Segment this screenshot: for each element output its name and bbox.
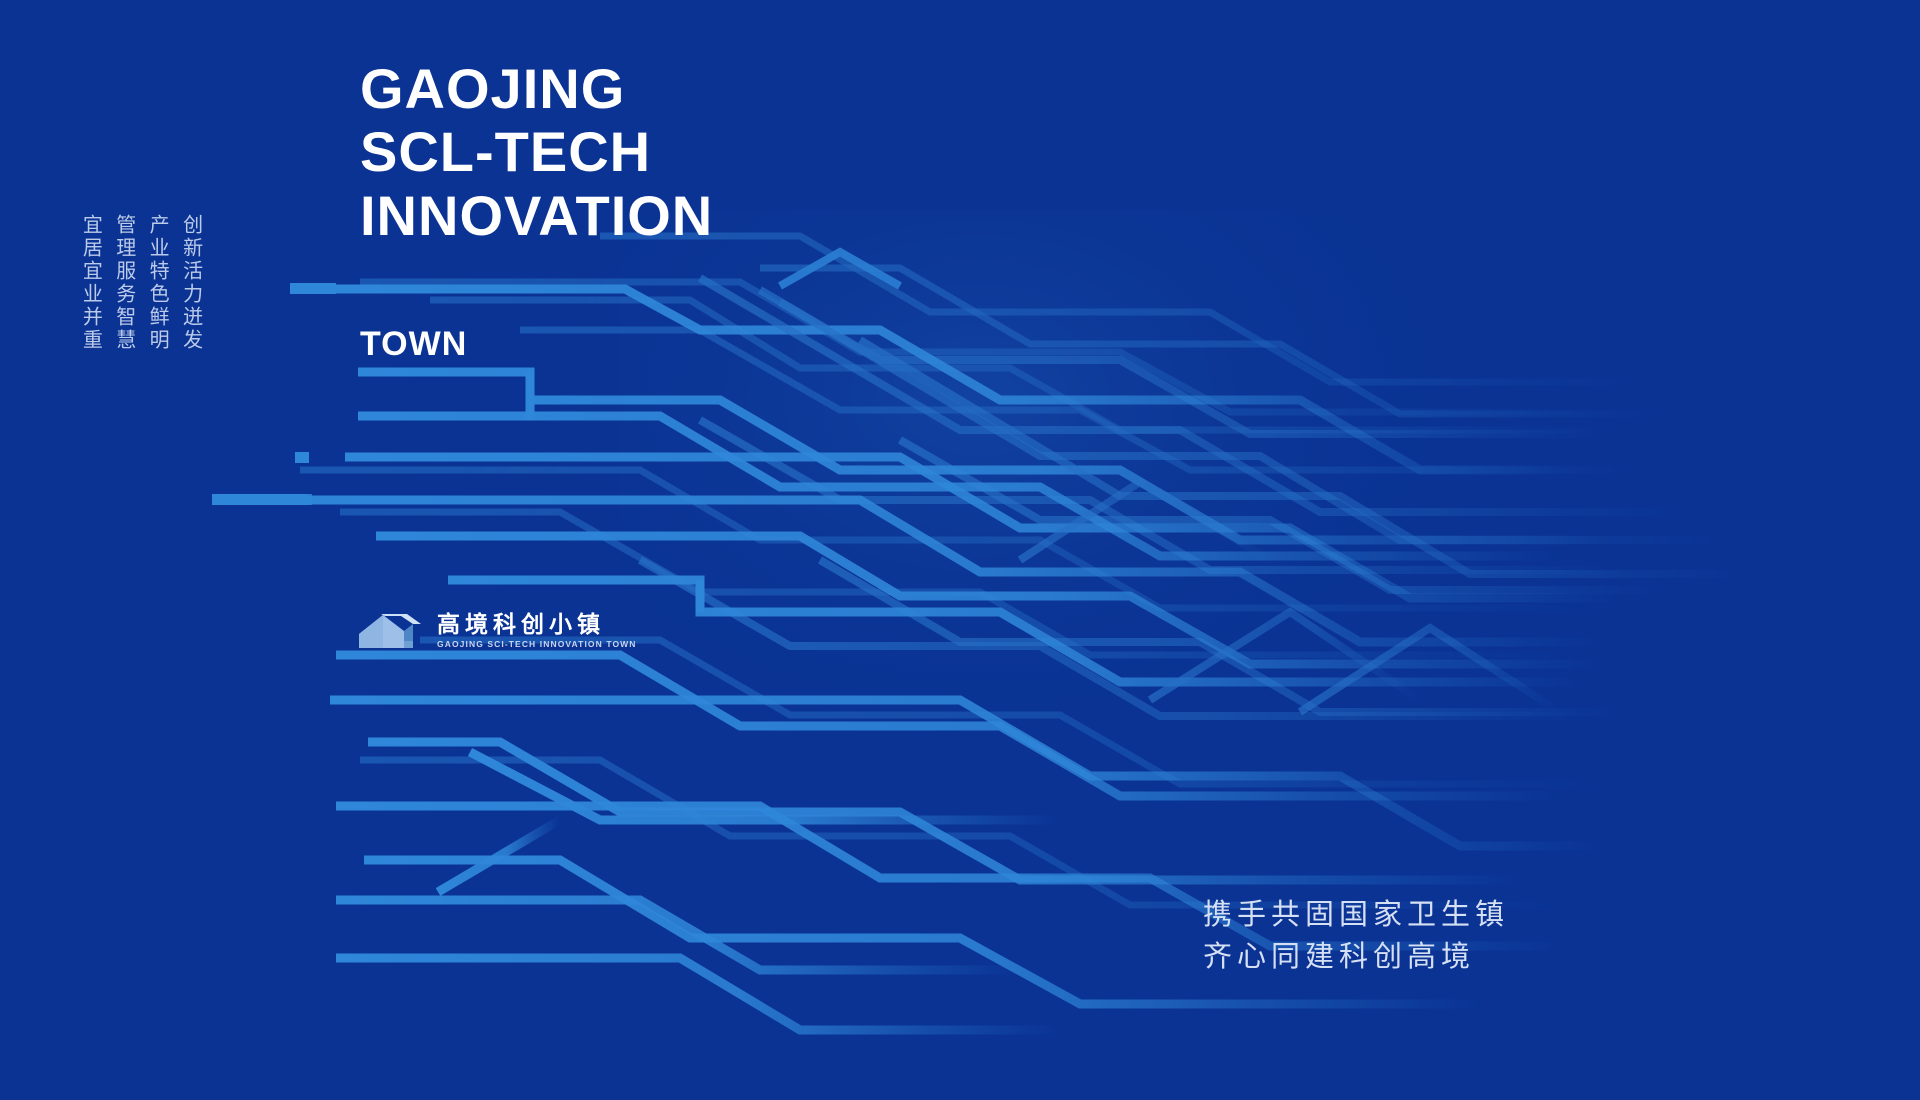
headline-line-3: INNOVATION xyxy=(360,189,713,243)
vertical-slogan: 创新活力迸发 产业特色鲜明 管理服务智慧 宜居宜业并重 xyxy=(78,214,205,352)
logo-english-name: GAOJING SCI-TECH INNOVATION TOWN xyxy=(437,640,637,649)
corner-slogan-line-2: 齐心同建科创高境 xyxy=(1203,935,1509,977)
circuit-lines-svg xyxy=(0,0,1920,1100)
circuit-background xyxy=(0,0,1920,1100)
vertical-slogan-col-1: 创新活力迸发 xyxy=(178,214,204,352)
trace-dash-markers xyxy=(212,283,336,505)
logo-chinese-name: 高境科创小镇 xyxy=(437,613,637,637)
page-title: GAOJING SCL-TECH INNOVATION xyxy=(360,62,713,252)
logo: 高境科创小镇 GAOJING SCI-TECH INNOVATION TOWN xyxy=(357,608,637,654)
headline-line-2: SCL-TECH xyxy=(360,125,713,179)
poster-canvas: 创新活力迸发 产业特色鲜明 管理服务智慧 宜居宜业并重 GAOJING SCL-… xyxy=(0,0,1920,1100)
vertical-slogan-col-2: 产业特色鲜明 xyxy=(145,214,171,352)
logo-text-stack: 高境科创小镇 GAOJING SCI-TECH INNOVATION TOWN xyxy=(437,613,637,648)
vertical-slogan-col-4: 宜居宜业并重 xyxy=(78,214,104,352)
vertical-slogan-col-3: 管理服务智慧 xyxy=(111,214,137,352)
trace-peak-top xyxy=(780,252,900,286)
corner-slogan-line-1: 携手共固国家卫生镇 xyxy=(1203,893,1509,935)
house-building-icon xyxy=(357,608,423,654)
headline-line-4: TOWN xyxy=(360,325,467,364)
corner-slogan: 携手共固国家卫生镇 齐心同建科创高境 xyxy=(1203,893,1509,977)
haze-overlay xyxy=(620,210,1520,830)
headline-line-1: GAOJING xyxy=(360,62,713,116)
